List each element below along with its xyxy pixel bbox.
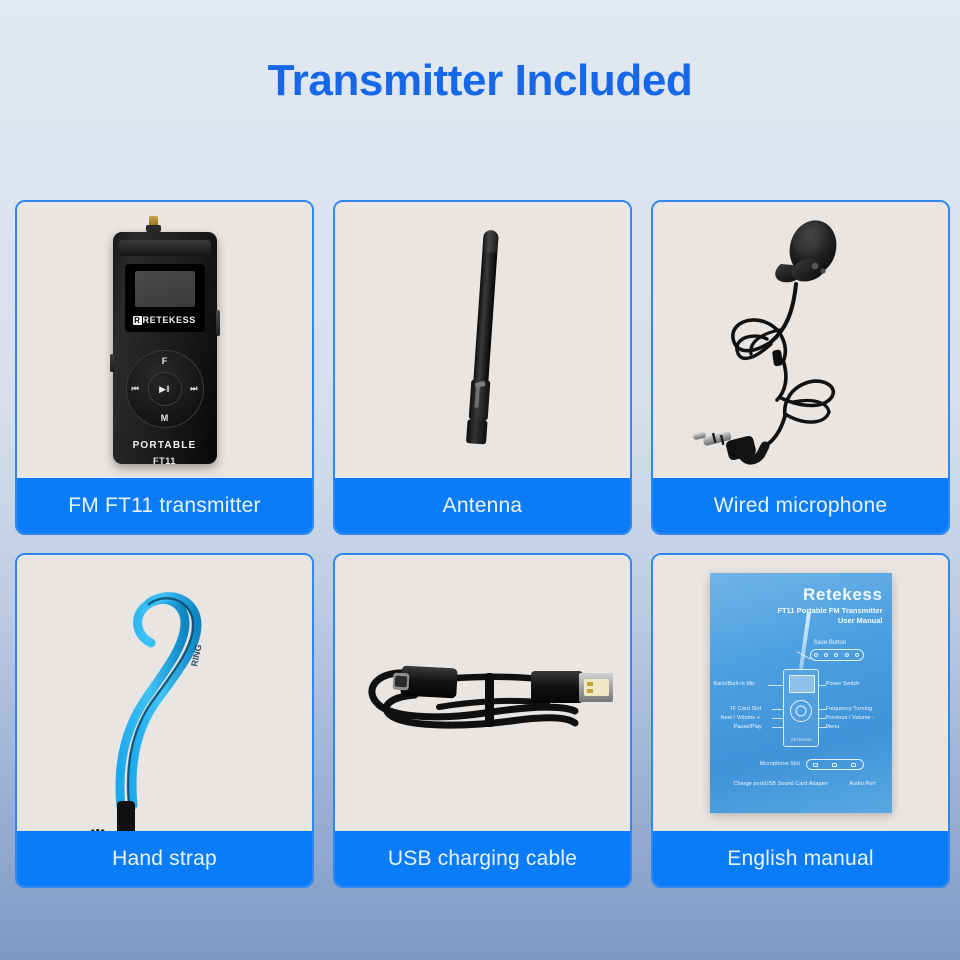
manual-diagram-dpad	[790, 700, 812, 722]
control-dpad[interactable]: F ⏮ ⏭ M ▶‖	[126, 350, 204, 428]
card-label-hand-strap: Hand strap	[17, 831, 312, 886]
product-infographic: Transmitter Included RRETEKESS	[0, 0, 960, 960]
manual-note-menu: Menu	[826, 724, 840, 730]
dpad-frequency-button[interactable]: F	[126, 356, 204, 366]
save-slot-icon	[845, 653, 849, 657]
manual-note-charge-port: Charge port/USB Sound Card Adapter	[734, 781, 829, 787]
cable-tie	[485, 673, 494, 727]
transmitter-screen	[135, 271, 195, 307]
brand-name: RETEKESS	[143, 315, 196, 325]
card-wired-microphone[interactable]: Wired microphone	[651, 200, 950, 535]
transmitter-side-slot	[110, 354, 114, 372]
antenna-tip	[482, 230, 498, 253]
transmitter-device: RRETEKESS F ⏮ ⏭ M ▶‖ PORTABLE FT11	[113, 216, 217, 466]
manual-note-next-volume: Next / Volume +	[721, 715, 761, 721]
transmitter-top-cap	[119, 240, 211, 256]
transmitter-side-button	[216, 310, 220, 336]
manual-note-back-mic: Back/Built-in Mic	[714, 681, 756, 687]
manual-note-save-button: Save Button	[814, 640, 847, 646]
brand-mark-icon: R	[133, 316, 141, 325]
portable-text: PORTABLE	[113, 440, 217, 451]
card-label-english-manual: English manual	[653, 831, 948, 886]
manual-note-previous-volume: Previous / Volume -	[826, 715, 875, 721]
dpad-next-icon[interactable]: ⏭	[190, 384, 197, 394]
usb-a-connector	[531, 671, 613, 703]
microphone-illustration	[653, 202, 948, 478]
card-hand-strap[interactable]: RING Hand strap	[15, 553, 314, 888]
strap-cinch	[117, 801, 135, 831]
manual-diagram-screen	[789, 675, 815, 693]
transmitter-faceplate: RRETEKESS	[125, 264, 205, 332]
manual-microphone-slot-row	[806, 759, 864, 770]
manual-subtitle-line1: FT11 Portable FM Transmitter	[777, 606, 882, 615]
antenna-image	[335, 202, 630, 478]
hand-strap-illustration: RING	[17, 555, 312, 831]
dpad-menu-button[interactable]: M	[126, 413, 204, 423]
port-icon	[851, 763, 856, 767]
card-usb-charging-cable[interactable]: USB charging cable	[333, 553, 632, 888]
card-fm-transmitter[interactable]: RRETEKESS F ⏮ ⏭ M ▶‖ PORTABLE FT11	[15, 200, 314, 535]
port-icon	[832, 763, 837, 767]
manual-note-power-switch: Power Switch	[826, 681, 860, 687]
manual-diagram-device-caption: RETEKESS	[784, 738, 820, 742]
leader-line	[768, 685, 784, 686]
card-label-fm-transmitter: FM FT11 transmitter	[17, 478, 312, 533]
micro-usb-connector	[393, 666, 458, 699]
antenna-device	[462, 229, 504, 456]
english-manual-image: Retekess FT11 Portable FM Transmitter Us…	[653, 555, 948, 831]
usb-cable-image	[335, 555, 630, 831]
page-title: Transmitter Included	[0, 56, 960, 106]
manual-note-microphone-slot: Microphone Slot	[760, 761, 800, 767]
save-slot-icon	[855, 653, 859, 657]
manual-cover: Retekess FT11 Portable FM Transmitter Us…	[710, 573, 892, 813]
brand-logo: RRETEKESS	[125, 315, 205, 325]
leader-line	[772, 727, 784, 728]
transmitter-body: RRETEKESS F ⏮ ⏭ M ▶‖ PORTABLE FT11	[113, 232, 217, 464]
antenna-connector-base	[146, 225, 161, 232]
manual-save-button-row	[810, 649, 864, 661]
save-slot-icon	[834, 653, 838, 657]
leader-line	[818, 718, 826, 719]
hand-strap-image: RING	[17, 555, 312, 831]
manual-diagram-antenna	[799, 611, 811, 669]
card-label-usb-charging-cable: USB charging cable	[335, 831, 630, 886]
wired-microphone-image	[653, 202, 948, 478]
card-label-antenna: Antenna	[335, 478, 630, 533]
leader-line	[772, 709, 784, 710]
leader-line	[818, 709, 826, 710]
manual-note-audio-port: Audio Port	[850, 781, 876, 787]
usb-cable-illustration	[335, 555, 630, 831]
fm-transmitter-image: RRETEKESS F ⏮ ⏭ M ▶‖ PORTABLE FT11	[17, 202, 312, 478]
audio-plug-3-5mm	[692, 431, 765, 461]
manual-note-pause-play: Pause/Play	[734, 724, 762, 730]
manual-subtitle-line2: User Manual	[838, 616, 883, 625]
dpad-previous-icon[interactable]: ⏮	[132, 384, 139, 394]
manual-note-frequency-turning: Frequency Turning	[826, 706, 873, 712]
model-text: FT11	[113, 456, 217, 466]
leader-line	[818, 685, 826, 686]
leader-line	[818, 727, 826, 728]
save-slot-icon	[824, 653, 828, 657]
accessory-card-grid: RRETEKESS F ⏮ ⏭ M ▶‖ PORTABLE FT11	[15, 200, 950, 888]
antenna-hinge-slot	[474, 386, 480, 408]
leader-line	[772, 718, 784, 719]
card-label-wired-microphone: Wired microphone	[653, 478, 948, 533]
card-english-manual[interactable]: Retekess FT11 Portable FM Transmitter Us…	[651, 553, 950, 888]
dpad-play-pause-icon[interactable]: ▶‖	[148, 372, 182, 406]
manual-brand: Retekess	[803, 585, 882, 605]
manual-diagram-device: RETEKESS	[783, 669, 819, 747]
port-icon	[813, 763, 818, 767]
save-slot-icon	[814, 653, 818, 657]
antenna-base-connector	[465, 419, 487, 444]
card-antenna[interactable]: Antenna	[333, 200, 632, 535]
manual-note-tf-card-slot: TF Card Slot	[730, 706, 762, 712]
